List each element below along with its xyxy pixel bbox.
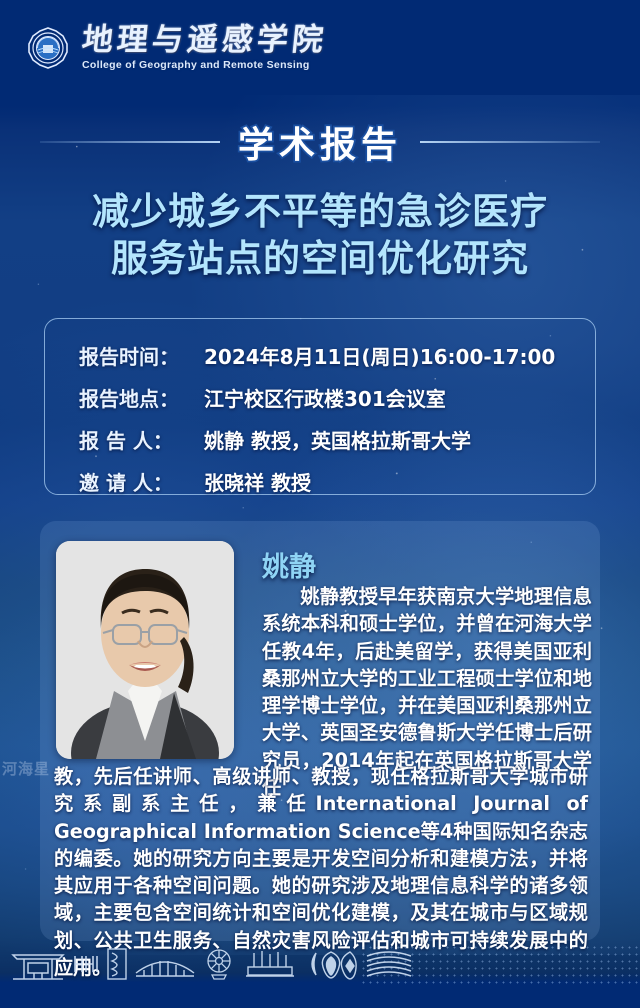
banner-rule-left: [40, 141, 220, 143]
info-value-venue: 江宁校区行政楼301会议室: [204, 383, 446, 412]
banner-rule-right: [420, 141, 600, 143]
footer-icon-band: [0, 944, 640, 984]
info-label-speaker: 报 告 人：: [79, 425, 204, 454]
buildings-icon: [242, 949, 298, 979]
info-row-speaker: 报 告 人： 姚静 教授，英国格拉斯哥大学: [79, 425, 595, 454]
college-name-en: College of Geography and Remote Sensing: [82, 60, 327, 71]
bridge-icon: [134, 949, 196, 979]
hhi-letters-icon: [72, 952, 100, 976]
info-label-time: 报告时间：: [79, 341, 204, 370]
speaker-portrait-photo: [56, 541, 234, 759]
leaf-shield-icon: [304, 947, 358, 981]
college-name-cn: 地理与遥感学院: [80, 25, 328, 56]
academic-lecture-poster: 地理与遥感学院 College of Geography and Remote …: [0, 0, 640, 1008]
lecture-title-line2: 服务站点的空间优化研究: [0, 235, 640, 282]
watermark: 河海星: [2, 758, 50, 779]
info-label-venue: 报告地点：: [79, 383, 204, 412]
info-value-speaker: 姚静 教授，英国格拉斯哥大学: [204, 425, 471, 454]
banner-label: 学术报告: [238, 116, 402, 168]
banner: 学术报告: [0, 116, 640, 168]
info-row-host: 邀 请 人： 张晓祥 教授: [79, 467, 595, 496]
turbine-fan-icon: [202, 947, 236, 981]
wave-book-icon: [364, 948, 414, 980]
lecture-title-line1: 减少城乡不平等的急诊医疗: [0, 188, 640, 235]
university-seal-icon: [26, 26, 70, 70]
dna-helix-icon: [106, 947, 128, 981]
speaker-name: 姚静: [262, 545, 316, 584]
gate-pailou-icon: [10, 947, 66, 981]
info-row-venue: 报告地点： 江宁校区行政楼301会议室: [79, 383, 595, 412]
poster-header: 地理与遥感学院 College of Geography and Remote …: [0, 0, 640, 96]
info-value-host: 张晓祥 教授: [204, 467, 311, 496]
info-value-time: 2024年8月11日(周日)16:00-17:00: [204, 341, 555, 370]
lecture-info-box: 报告时间： 2024年8月11日(周日)16:00-17:00 报告地点： 江宁…: [44, 318, 596, 495]
info-row-time: 报告时间： 2024年8月11日(周日)16:00-17:00: [79, 341, 595, 370]
lecture-title: 减少城乡不平等的急诊医疗 服务站点的空间优化研究: [0, 188, 640, 283]
info-label-host: 邀 请 人：: [79, 467, 204, 496]
footer-bar: [0, 984, 640, 1008]
college-wordmark: 地理与遥感学院 College of Geography and Remote …: [82, 25, 327, 71]
